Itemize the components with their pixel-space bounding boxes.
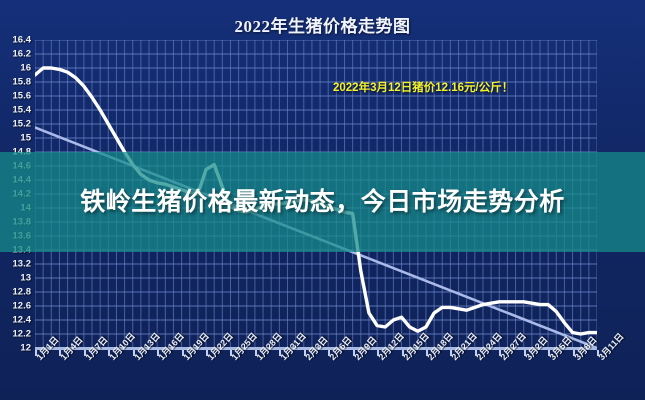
y-axis-tick-label: 12.6	[13, 301, 32, 312]
y-axis-tick-label: 12.8	[13, 287, 32, 298]
overlay-headline: 铁岭生猪价格最新动态，今日市场走势分析	[0, 152, 645, 252]
y-axis-tick-label: 16.4	[13, 35, 32, 46]
y-axis-tick-label: 15.8	[13, 77, 32, 88]
y-axis-tick-label: 12.2	[13, 329, 32, 340]
y-axis-tick-label: 15.6	[13, 91, 32, 102]
latest-price-annotation: 2022年3月12日猪价12.16元/公斤！	[333, 80, 515, 97]
y-axis-tick-label: 13	[20, 273, 31, 284]
y-axis-tick-label: 12.4	[13, 315, 32, 326]
y-axis-tick-label: 15.4	[13, 105, 32, 116]
y-axis-tick-label: 15	[20, 133, 31, 144]
chart-screenshot: 2022年生猪价格走势图 16.416.21615.815.615.415.21…	[0, 0, 645, 400]
chart-title: 2022年生猪价格走势图	[0, 12, 645, 37]
y-axis-tick-label: 13.2	[13, 259, 32, 270]
y-axis-tick-label: 15.2	[13, 119, 32, 130]
y-axis-tick-label: 16.2	[13, 49, 32, 60]
y-axis-tick-label: 16	[20, 63, 31, 74]
x-axis-labels: 1月1日1月4日1月7日1月10日1月13日1月16日1月19日1月22日1月2…	[0, 348, 645, 400]
